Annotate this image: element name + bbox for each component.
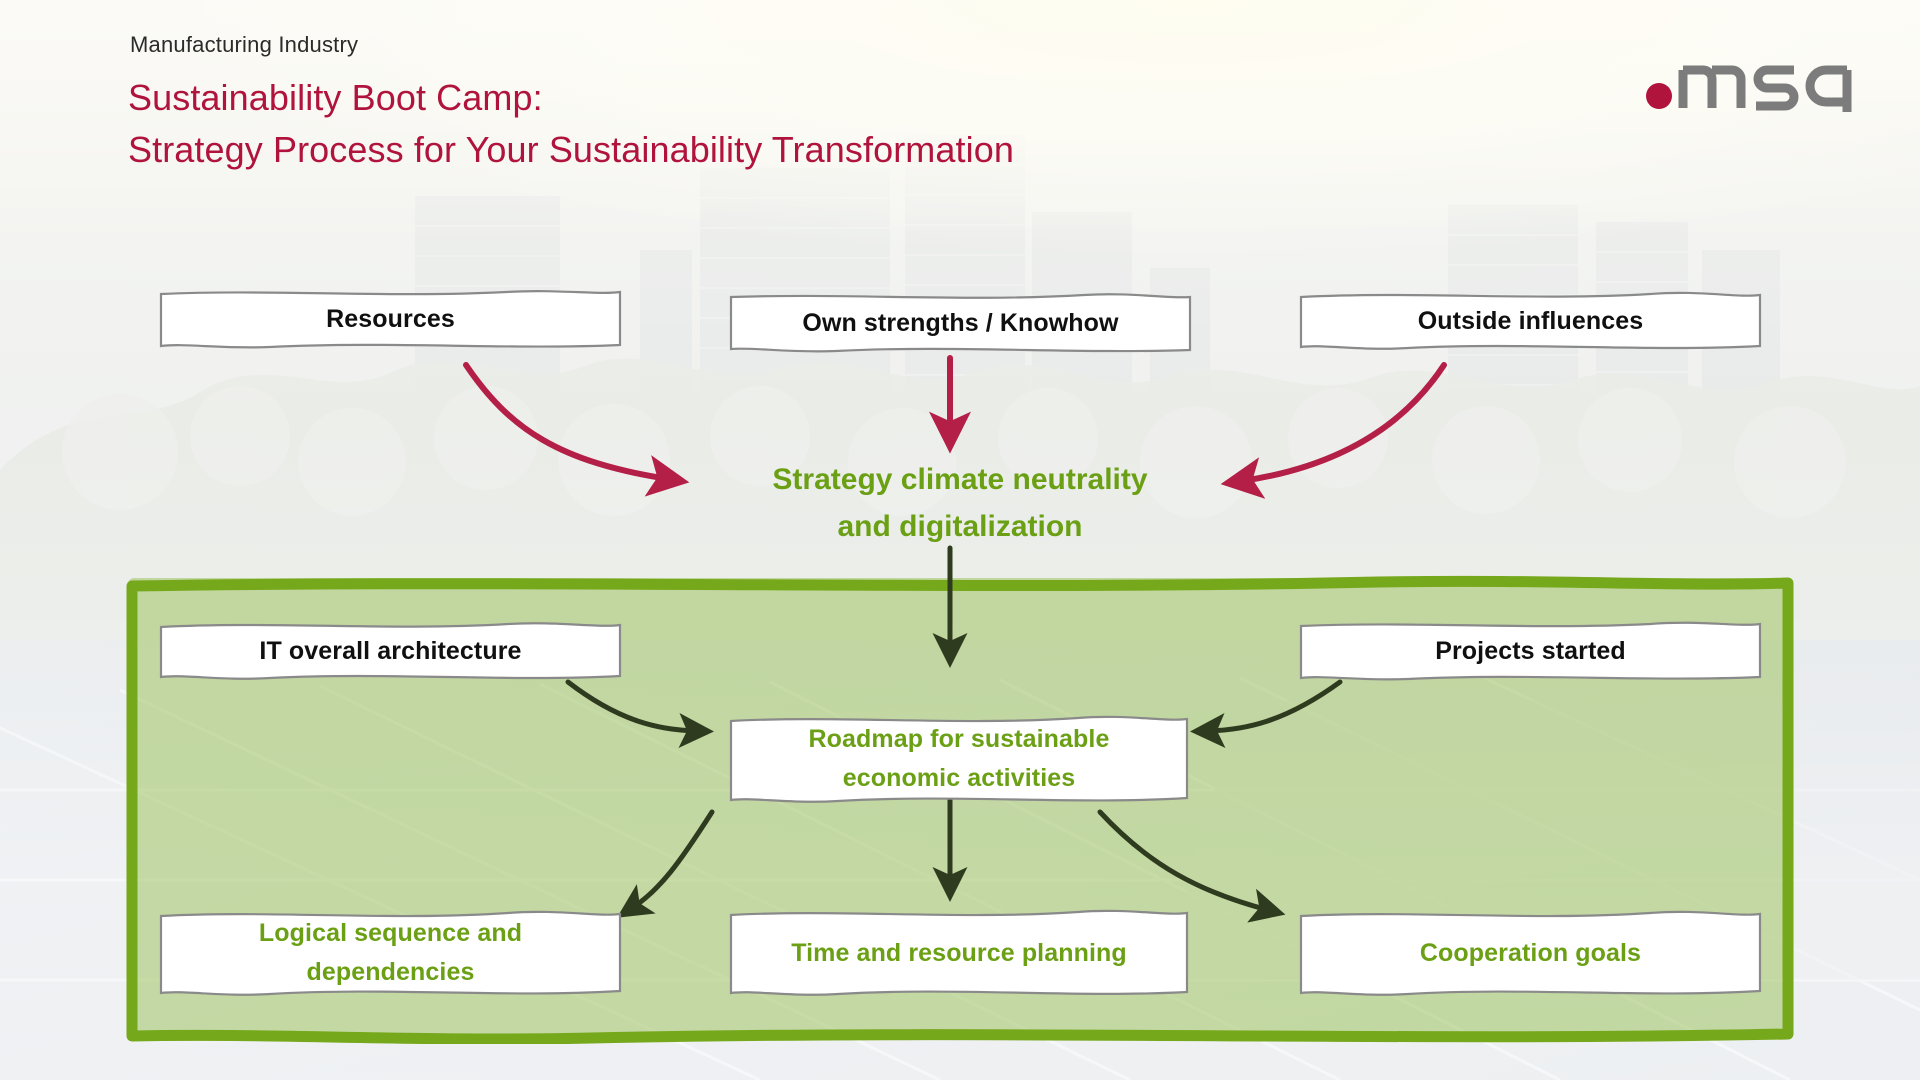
strategy-line1: Strategy climate neutrality: [772, 463, 1147, 496]
page-eyebrow: Manufacturing Industry: [130, 32, 358, 58]
box-logical-sequence-label: Logical sequence and dependencies: [176, 914, 605, 992]
box-it-overall-architecture-label: IT overall architecture: [259, 634, 521, 668]
box-it-overall-architecture[interactable]: IT overall architecture: [158, 620, 623, 682]
box-logical-sequence[interactable]: Logical sequence and dependencies: [158, 908, 623, 998]
box-cooperation-goals[interactable]: Cooperation goals: [1298, 908, 1763, 998]
msg-logo: [1642, 40, 1862, 112]
box-outside-influences[interactable]: Outside influences: [1298, 290, 1763, 352]
page-title-line1: Sustainability Boot Camp:: [128, 77, 543, 118]
strategy-line2: and digitalization: [700, 503, 1220, 550]
box-projects-started[interactable]: Projects started: [1298, 620, 1763, 682]
logo-dot-icon: [1646, 83, 1672, 109]
box-roadmap-line2: economic activities: [843, 764, 1076, 792]
box-outside-influences-label: Outside influences: [1418, 304, 1643, 338]
box-roadmap[interactable]: Roadmap for sustainable economic activit…: [728, 713, 1190, 805]
box-own-strengths-label: Own strengths / Knowhow: [802, 306, 1118, 340]
box-time-resource-planning-label: Time and resource planning: [791, 936, 1127, 970]
box-time-resource-planning[interactable]: Time and resource planning: [728, 908, 1190, 998]
page-title: Sustainability Boot Camp: Strategy Proce…: [128, 72, 1014, 176]
box-projects-started-label: Projects started: [1435, 634, 1626, 668]
box-own-strengths[interactable]: Own strengths / Knowhow: [728, 292, 1193, 354]
strategy-statement: Strategy climate neutrality and digitali…: [700, 456, 1220, 550]
page-title-line2: Strategy Process for Your Sustainability…: [128, 124, 1014, 176]
box-roadmap-label: Roadmap for sustainable economic activit…: [809, 720, 1110, 798]
box-resources-label: Resources: [326, 302, 455, 336]
box-cooperation-goals-label: Cooperation goals: [1420, 936, 1641, 970]
box-resources[interactable]: Resources: [158, 288, 623, 350]
box-roadmap-line1: Roadmap for sustainable: [809, 725, 1110, 753]
